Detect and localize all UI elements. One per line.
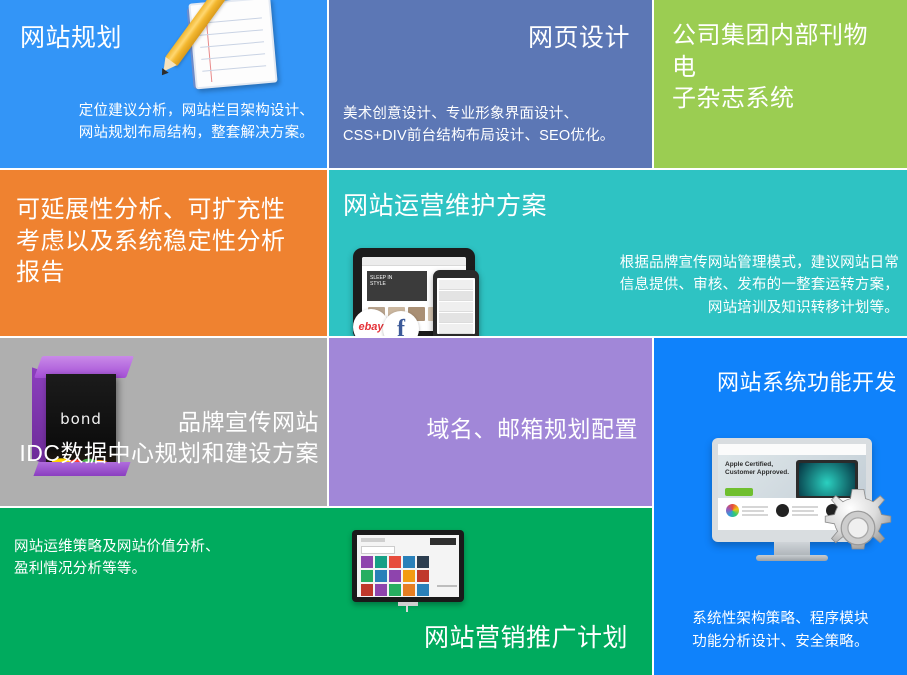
tile-description: 根据品牌宣传网站管理模式，建议网站日常 信息提供、审核、发布的一整套运转方案， …	[569, 252, 899, 319]
tile-description: 定位建议分析，网站栏目架构设计、 网站规划布局结构，整套解决方案。	[24, 100, 314, 145]
tile-internal-magazine-system[interactable]: 公司集团内部刊物电 子杂志系统	[654, 0, 907, 168]
notepad-pencil-icon	[170, 0, 290, 90]
tile-title: 品牌宣传网站 IDC数据中心规划和建设方案	[4, 407, 319, 468]
tile-title: 公司集团内部刊物电 子杂志系统	[672, 20, 890, 115]
tile-domain-mailbox-config[interactable]: 域名、邮箱规划配置	[329, 338, 652, 506]
tile-description: 系统性架构策略、程序模块 功能分析设计、安全策略。	[654, 608, 907, 653]
tile-description: 美术创意设计、专业形象界面设计、 CSS+DIV前台结构布局设计、SEO优化。	[343, 103, 643, 148]
surface-tablet-icon	[352, 530, 468, 612]
imac-gear-icon: Apple Certified, Customer Approved.	[712, 438, 902, 578]
tile-website-planning[interactable]: 网站规划 定位建议分析，网站栏目架构设计、 网站规划布局结构，整套解决方案。	[0, 0, 327, 168]
tile-operations-maintenance[interactable]: 网站运营维护方案 SLEEP INSTYLE	[329, 170, 907, 336]
tile-title: 域名、邮箱规划配置	[427, 414, 639, 444]
tile-title: 网站运营维护方案	[343, 190, 547, 223]
tile-title: 可延展性分析、可扩充性 考虑以及系统稳定性分析 报告	[16, 194, 316, 289]
tile-title: 网页设计	[528, 22, 630, 55]
gear-icon	[816, 486, 900, 570]
tile-description: 网站运维策略及网站价值分析、 盈利情况分析等等。	[14, 536, 344, 581]
tile-marketing-promotion-plan[interactable]: 网站运维策略及网站价值分析、 盈利情况分析等等。	[0, 508, 652, 675]
tablet-phone-icon: SLEEP INSTYLE ebay	[353, 248, 538, 336]
tile-system-function-development[interactable]: 网站系统功能开发 Apple Certified, Customer Appro…	[654, 338, 907, 675]
tile-title: 网站规划	[20, 22, 122, 55]
screen-headline: Apple Certified, Customer Approved.	[725, 461, 789, 477]
tile-web-design[interactable]: 网页设计 美术创意设计、专业形象界面设计、 CSS+DIV前台结构布局设计、SE…	[329, 0, 652, 168]
tile-scalability-report[interactable]: 可延展性分析、可扩充性 考虑以及系统稳定性分析 报告	[0, 170, 327, 336]
tile-board: 网站规划 定位建议分析，网站栏目架构设计、 网站规划布局结构，整套解决方案。 网…	[0, 0, 907, 675]
tile-title: 网站系统功能开发	[717, 368, 897, 397]
tile-idc-datacenter-plan[interactable]: bond 品牌宣传网站 IDC数据中心规划和建设方案	[0, 338, 327, 506]
tile-title: 网站营销推广计划	[424, 622, 628, 655]
